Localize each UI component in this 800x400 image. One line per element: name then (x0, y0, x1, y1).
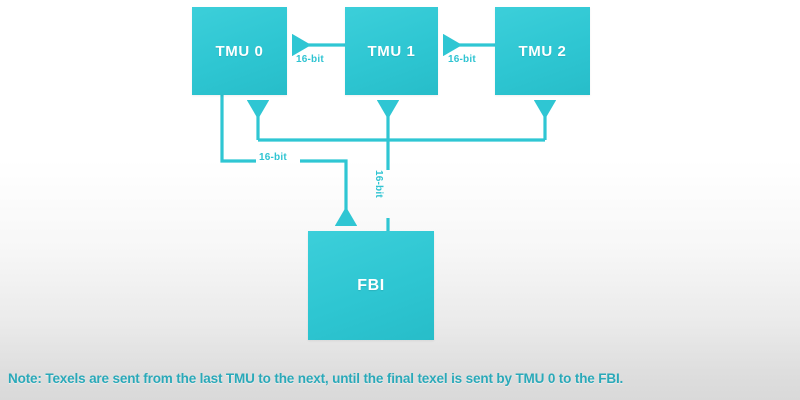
diagram-canvas: TMU 0 TMU 1 TMU 2 FBI 16-bit 16-bit 16-b… (0, 0, 800, 400)
node-tmu2-label: TMU 2 (519, 43, 567, 60)
edge-label-tmu1-to-tmu0: 16-bit (296, 55, 324, 65)
connector-tmu0-to-fbi-seg2 (300, 161, 346, 226)
diagram-caption: Note: Texels are sent from the last TMU … (8, 371, 798, 386)
node-tmu0[interactable]: TMU 0 (192, 7, 287, 95)
node-tmu1-label: TMU 1 (368, 43, 416, 60)
connector-tmu0-to-fbi-seg1 (222, 95, 256, 161)
node-tmu1[interactable]: TMU 1 (345, 7, 438, 95)
node-fbi-label: FBI (357, 277, 385, 295)
edge-label-tmu0-to-fbi: 16-bit (259, 153, 287, 163)
node-fbi[interactable]: FBI (308, 231, 434, 340)
edge-label-fbi-to-tmu1: 16-bit (373, 170, 383, 198)
node-tmu2[interactable]: TMU 2 (495, 7, 590, 95)
edge-label-tmu2-to-tmu1: 16-bit (448, 55, 476, 65)
node-tmu0-label: TMU 0 (216, 43, 264, 60)
